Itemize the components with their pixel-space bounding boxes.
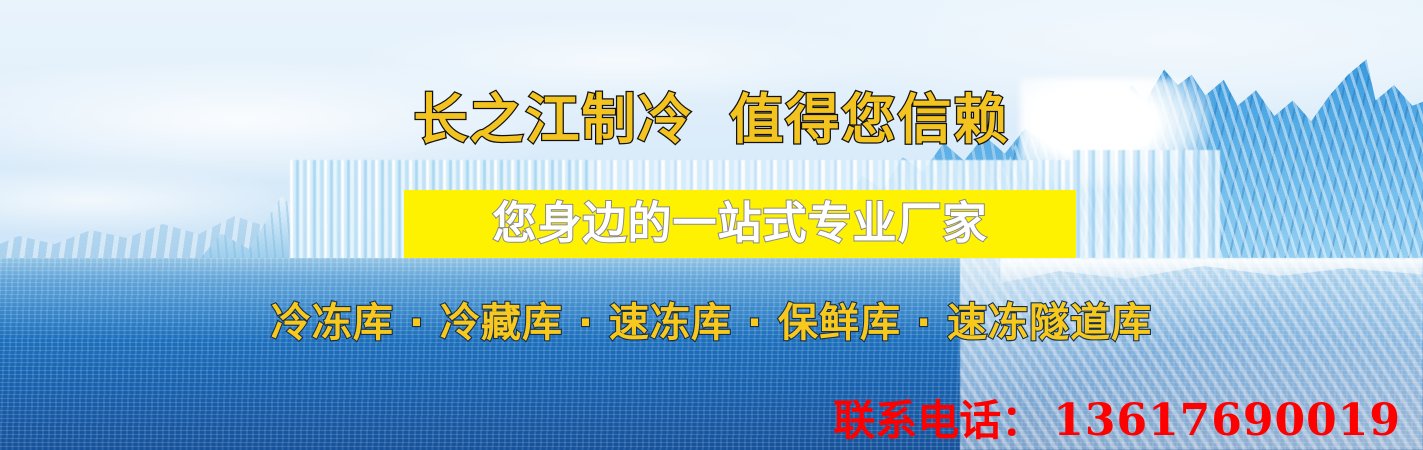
center-snow-peak [180, 172, 410, 282]
contact-phone-number: 13617690019 [1053, 395, 1401, 446]
ice-shelf-edge [1000, 258, 1423, 294]
services-list: 冷冻库 · 冷藏库 · 速冻库 · 保鲜库 · 速冻隧道库 [0, 298, 1423, 348]
promo-banner: 长之江制冷值得您信赖 您身边的一站式专业厂家 冷冻库 · 冷藏库 · 速冻库 ·… [0, 0, 1423, 450]
headline-slogan: 值得您信赖 [730, 88, 1010, 151]
contact-phone-label: 联系电话： [833, 387, 1043, 448]
iceberg-right [398, 266, 488, 300]
ice-cliff-right [1070, 150, 1220, 260]
banner-headline: 长之江制冷值得您信赖 [0, 88, 1423, 152]
center-peak-texture [180, 172, 410, 282]
headline-brand: 长之江制冷 [414, 88, 694, 151]
iceberg-large [248, 252, 418, 304]
subheadline-text: 您身边的一站式专业厂家 [404, 190, 1076, 258]
iceberg-small [172, 262, 292, 302]
contact-phone-row: 联系电话： 13617690019 [833, 387, 1401, 448]
